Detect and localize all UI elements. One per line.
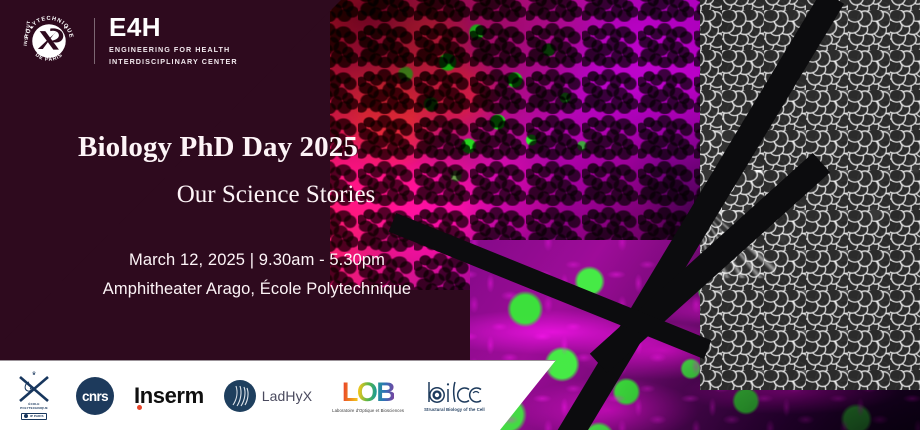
poster-canvas: POLYTECHNIQUE DE PARIS INSTITUT E4H ENGI… (0, 0, 920, 430)
e4h-tagline-line1: ENGINEERING FOR HEALTH (109, 44, 238, 56)
logo-bioc-tagline: Structural Biology of the Cell (424, 407, 485, 412)
event-date-time: March 12, 2025 | 9.30am - 5.30pm (52, 246, 462, 275)
brand-header: POLYTECHNIQUE DE PARIS INSTITUT E4H ENGI… (18, 10, 238, 72)
logo-lob[interactable]: LOB Laboratoire d'Optique et Biosciences (332, 379, 404, 413)
cnrs-badge-icon: cnrs (76, 377, 114, 415)
vertical-divider-icon (94, 18, 95, 64)
logo-ecole-polytechnique[interactable]: ♛ ÉCOLE POLYTECHNIQUE IP PARIS (12, 372, 56, 420)
event-details: March 12, 2025 | 9.30am - 5.30pm Amphith… (52, 246, 462, 305)
inserm-red-dot-icon (137, 405, 142, 410)
logo-cnrs-label: cnrs (82, 389, 108, 404)
ip-paris-seal-icon: POLYTECHNIQUE DE PARIS INSTITUT (18, 10, 80, 72)
logo-cnrs[interactable]: cnrs (76, 377, 114, 415)
e4h-tagline: ENGINEERING FOR HEALTH INTERDISCIPLINARY… (109, 44, 238, 67)
ip-paris-dot-icon (24, 414, 28, 418)
ip-paris-badge: IP PARIS (21, 413, 46, 420)
logo-bioc[interactable]: Structural Biology of the Cell (424, 380, 485, 412)
logo-ladhyx-label: LadHyX (262, 388, 312, 404)
page-subtitle: Our Science Stories (78, 179, 508, 210)
event-venue: Amphitheater Arago, École Polytechnique (52, 275, 462, 304)
logo-inserm[interactable]: Inserm (134, 383, 204, 409)
title-block: Biology PhD Day 2025 Our Science Stories (78, 130, 508, 210)
logo-ecole-polytechnique-label: ÉCOLE POLYTECHNIQUE (20, 403, 48, 411)
logo-lob-label: LOB (342, 379, 395, 406)
logo-lob-tagline: Laboratoire d'Optique et Biosciences (332, 408, 404, 413)
bioc-wordmark-icon (425, 380, 483, 406)
e4h-tagline-line2: INTERDISCIPLINARY CENTER (109, 56, 238, 68)
logo-ladhyx[interactable]: LadHyX (224, 380, 312, 412)
e4h-lockup: E4H ENGINEERING FOR HEALTH INTERDISCIPLI… (109, 14, 238, 67)
ip-paris-badge-label: IP PARIS (30, 414, 44, 418)
ep-label-line2: POLYTECHNIQUE (20, 407, 48, 411)
logo-inserm-label: Inserm (134, 383, 204, 409)
ladhyx-wave-icon (224, 380, 256, 412)
polytechnique-x-icon (16, 376, 52, 402)
e4h-wordmark: E4H (109, 14, 238, 41)
page-title: Biology PhD Day 2025 (78, 130, 508, 165)
